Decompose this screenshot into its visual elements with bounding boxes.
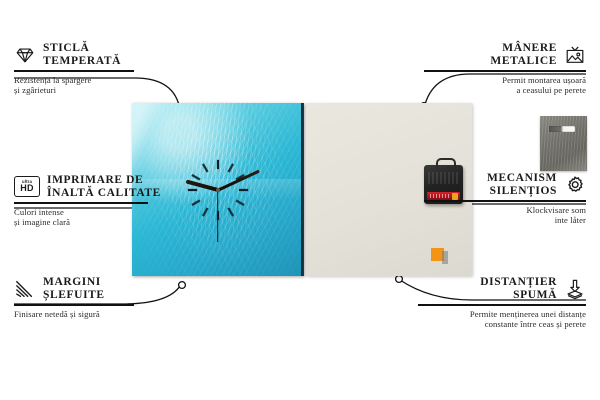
callout-title: STICLĂ TEMPERATĂ [43,42,121,67]
callout-header: MÂNERE METALICE [424,42,586,67]
down-arrow-stack-icon [564,278,586,300]
callout-subtitle: Finisare netedă și sigură [14,309,174,319]
panel-right-edge [301,103,304,276]
callout-title: IMPRIMARE DE ÎNALTĂ CALITATE [47,174,161,199]
callout-manere-metalice: MÂNERE METALICE Permit montarea ușoară a… [424,42,586,95]
callout-header: MARGINI ȘLEFUITE [14,276,174,301]
callout-distantier-spuma: DISTANȚIER SPUMĂ Permite menținerea unei… [418,276,586,329]
callout-rule [14,202,148,204]
callout-margini-slefuite: MARGINI ȘLEFUITE Finisare netedă și sigu… [14,276,174,319]
callout-header: DISTANȚIER SPUMĂ [418,276,586,301]
gear-icon [564,174,586,196]
foam-spacer-shadow [442,251,448,264]
callout-sticla-temperata: STICLĂ TEMPERATĂ Rezistență la spargere … [14,42,176,95]
callout-subtitle: Klockvisare som inte låter [424,205,586,225]
callout-rule [424,200,586,202]
callout-subtitle: Rezistență la spargere și zgârieturi [14,75,176,95]
callout-header: ultra HD IMPRIMARE DE ÎNALTĂ CALITATE [14,174,180,199]
callout-header: MECANISM SILENȚIOS [424,172,586,197]
callout-rule [14,304,134,306]
callout-rule [418,304,586,306]
mechanism-hanging-loop [436,158,456,169]
hanger-slot [549,126,575,132]
diamond-icon [14,44,36,66]
callout-subtitle: Permite menținerea unei distanțe constan… [418,309,586,329]
clock-center-hub [216,188,220,192]
picture-hanger-icon [564,44,586,66]
beveled-edge-icon [14,278,36,300]
foam-spacer [431,248,444,261]
metal-hanger-plate [540,116,587,171]
callout-rule [424,70,586,72]
callout-header: STICLĂ TEMPERATĂ [14,42,176,67]
product-photo [132,103,472,276]
leader-dot-margini-slefuite [179,282,186,289]
leader-dot-distantier-spuma [396,276,403,283]
infographic-canvas: STICLĂ TEMPERATĂ Rezistență la spargere … [0,0,600,400]
callout-mecanism-silentios: MECANISM SILENȚIOS Klockvisare som inte … [424,172,586,225]
callout-rule [14,70,134,72]
ultra-hd-badge-icon: ultra HD [14,176,40,197]
callout-title: MÂNERE METALICE [490,42,557,67]
callout-title: MECANISM SILENȚIOS [487,172,557,197]
callout-subtitle: Culori intense și imagine clară [14,207,180,227]
callout-title: DISTANȚIER SPUMĂ [480,276,557,301]
callout-subtitle: Permit montarea ușoară a ceasului pe per… [424,75,586,95]
callout-title: MARGINI ȘLEFUITE [43,276,105,301]
callout-imprimare-hd: ultra HD IMPRIMARE DE ÎNALTĂ CALITATE Cu… [14,174,180,227]
